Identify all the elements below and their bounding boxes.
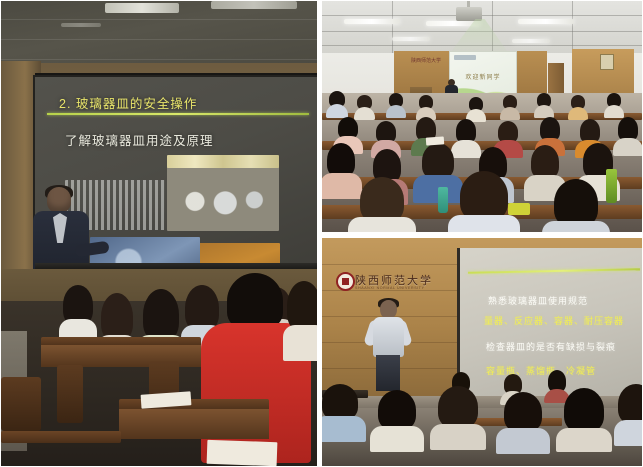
student [536, 93, 552, 117]
ceiling-light [105, 3, 179, 13]
university-emblem [336, 272, 355, 291]
water-bottle-green [438, 187, 448, 213]
slide-title: 欢迎新同学 [450, 72, 516, 81]
panel-divider-horizontal [317, 232, 643, 238]
student [434, 386, 482, 448]
ceiling-strip-light [392, 37, 430, 41]
paper-sheet [426, 136, 445, 145]
presenter-trousers [376, 355, 400, 391]
photo-collage: 2. 玻璃器皿的安全操作 了解玻璃器皿用途及原理 [0, 0, 643, 467]
ceiling-strip-light [344, 19, 400, 24]
presenter [368, 300, 408, 390]
slide-logo [454, 55, 476, 60]
slide-title: 2. 玻璃器皿的安全操作 [59, 93, 197, 112]
ceiling-strip-light [518, 19, 574, 24]
chair-back [1, 377, 41, 431]
slide-accent-rule [468, 268, 640, 274]
student [454, 171, 514, 233]
slide-line-1: 熟悉玻璃器皿使用规范 [488, 294, 588, 307]
student [324, 143, 358, 195]
wall-university-sign: 陕西师范大学 [405, 57, 447, 66]
student [468, 97, 484, 121]
presenter-shirt [373, 317, 404, 357]
slide-line-3: 检查器皿的是否有缺损与裂痕 [486, 340, 616, 353]
student [606, 93, 622, 117]
student [287, 281, 317, 361]
student [322, 384, 362, 440]
slide-subtitle: 了解玻璃器皿用途及原理 [65, 130, 214, 149]
student [328, 91, 346, 117]
ceiling-light [211, 1, 297, 9]
ceiling-strip-light [512, 39, 550, 43]
slide-accent-rule [47, 113, 309, 115]
water-bottle [606, 169, 617, 203]
student [374, 390, 420, 450]
wall-clock [600, 54, 614, 70]
presenter-head [47, 187, 71, 213]
student [616, 384, 642, 444]
student [570, 95, 586, 119]
student [356, 95, 373, 119]
desk [1, 431, 121, 443]
projector [456, 7, 482, 21]
student [502, 95, 518, 119]
student [560, 388, 608, 450]
student [354, 177, 410, 233]
slide-photo-shelf-strip [167, 155, 279, 168]
student [548, 179, 604, 233]
student [500, 392, 546, 452]
ceiling-light [61, 23, 101, 27]
chair-back [57, 365, 83, 423]
desk-front [119, 409, 269, 439]
university-subtitle: SHAANXI NORMAL UNIVERSITY [355, 286, 425, 290]
emblem-inner [342, 278, 349, 285]
panel-auditorium-wide-view: 陕西师范大学 欢迎新同学 [322, 1, 642, 233]
paper-sheet [207, 440, 278, 466]
student [418, 95, 434, 119]
slide-line-2: 量器、反应器、容器、耐压容器 [484, 314, 624, 327]
student [616, 117, 640, 153]
slide-photo-laboratory-glassware [167, 157, 279, 231]
student [388, 93, 404, 117]
panel-lecture-hall-glassware-slide: 2. 玻璃器皿的安全操作 了解玻璃器皿用途及原理 [1, 1, 317, 466]
phone [508, 203, 530, 215]
panel-presenter-glassware-rules: 陕西师范大学 SHAANXI NORMAL UNIVERSITY 熟悉玻璃器皿使… [322, 238, 642, 466]
